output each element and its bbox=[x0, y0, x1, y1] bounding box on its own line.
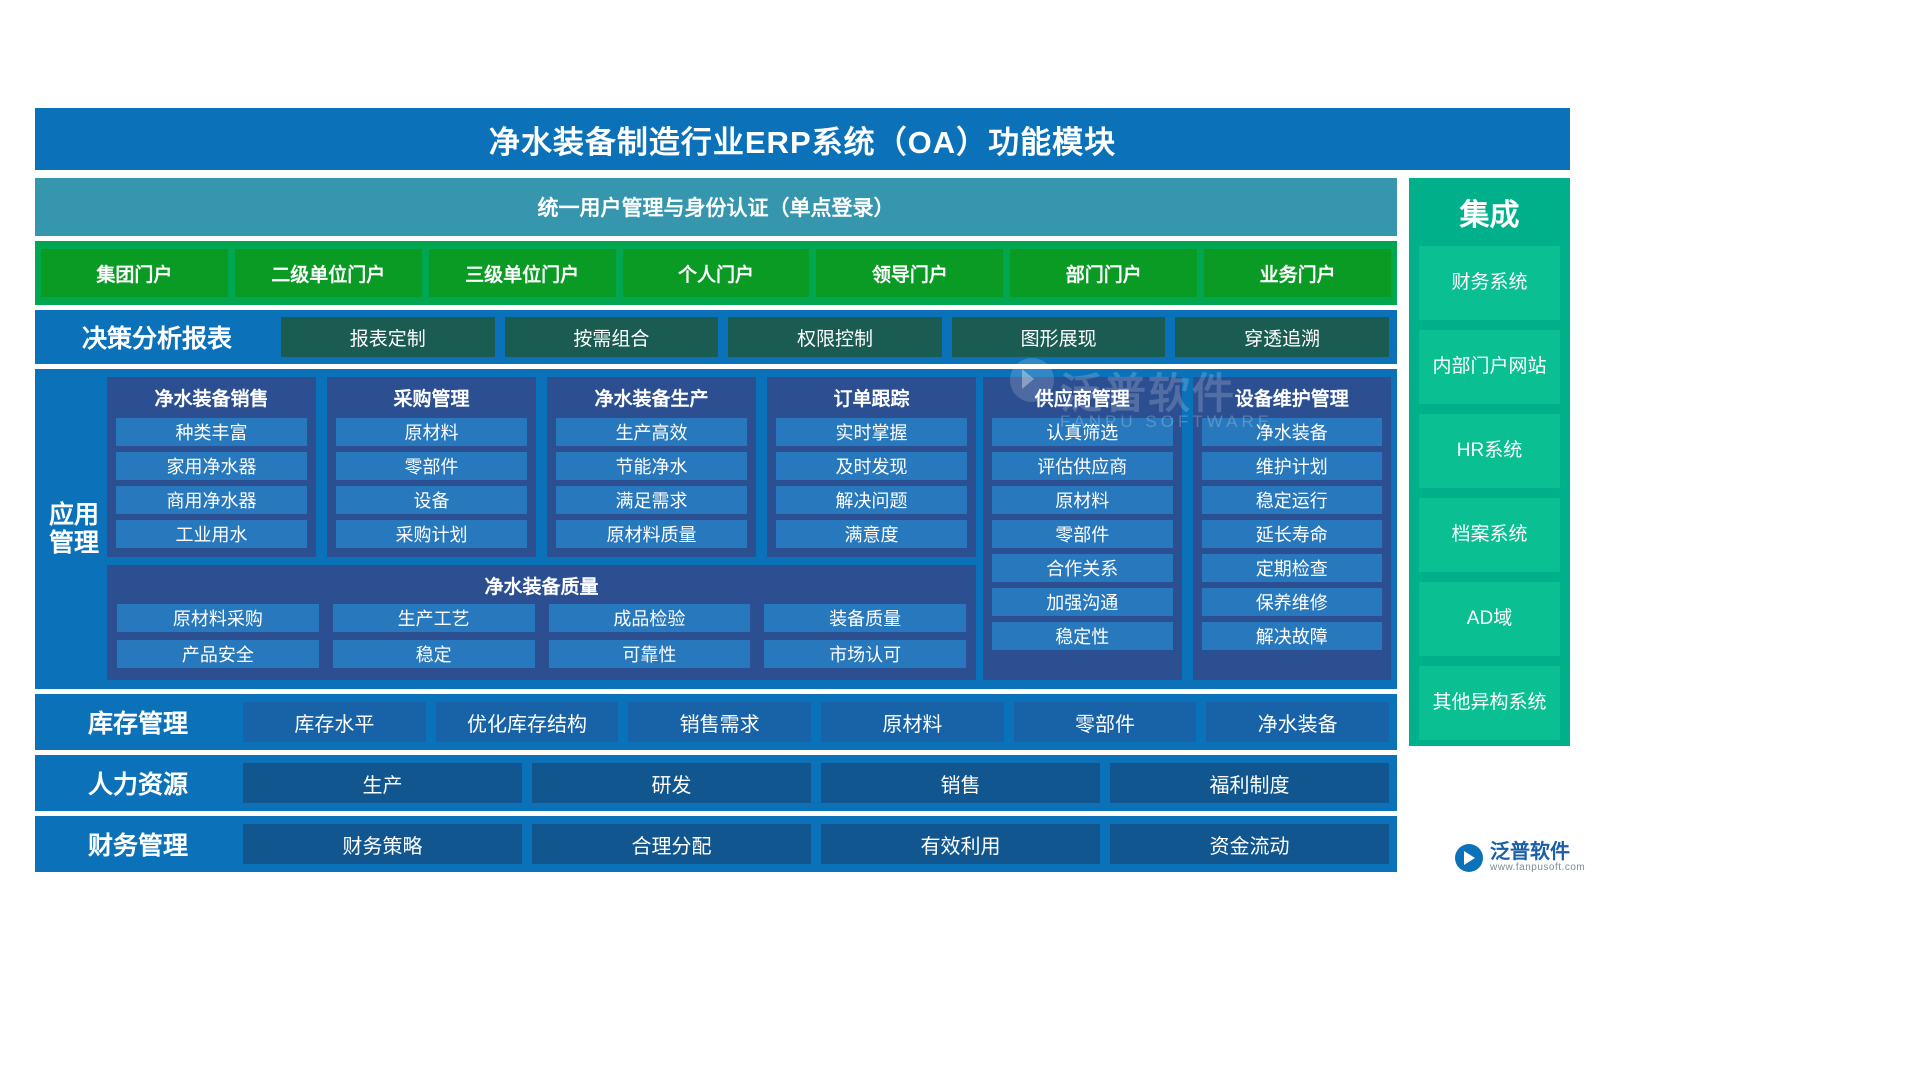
application-left-stack: 净水装备销售 种类丰富 家用净水器 商用净水器 工业用水 采购管理 原材料 零部… bbox=[107, 377, 976, 680]
portal-button-department[interactable]: 部门门户 bbox=[1010, 249, 1197, 297]
integration-item-archive[interactable]: 档案系统 bbox=[1419, 498, 1560, 572]
application-management-section: 应用管理 净水装备销售 种类丰富 家用净水器 商用净水器 工业用水 bbox=[35, 369, 1397, 689]
brand-name: 泛普软件 bbox=[1490, 842, 1585, 863]
chip-quality-2-1[interactable]: 生产工艺 bbox=[333, 604, 535, 632]
quality-column-4: 装备质量 市场认可 bbox=[764, 604, 966, 668]
finance-title: 财务管理 bbox=[43, 826, 233, 862]
finance-item-3[interactable]: 有效利用 bbox=[821, 824, 1100, 864]
chip-purchasing-4[interactable]: 采购计划 bbox=[336, 520, 527, 548]
portal-button-level2[interactable]: 二级单位门户 bbox=[235, 249, 422, 297]
inventory-item-5[interactable]: 零部件 bbox=[1014, 702, 1197, 742]
decision-report-title: 决策分析报表 bbox=[43, 319, 271, 355]
chip-sales-4[interactable]: 工业用水 bbox=[116, 520, 307, 548]
chip-quality-2-2[interactable]: 稳定 bbox=[333, 640, 535, 668]
portal-button-personal[interactable]: 个人门户 bbox=[623, 249, 810, 297]
inventory-row: 库存管理 库存水平 优化库存结构 销售需求 原材料 零部件 净水装备 bbox=[35, 694, 1397, 750]
finance-item-4[interactable]: 资金流动 bbox=[1110, 824, 1389, 864]
card-title-purchasing: 采购管理 bbox=[336, 384, 527, 411]
card-title-equipment: 设备维护管理 bbox=[1202, 384, 1383, 411]
quality-column-1: 原材料采购 产品安全 bbox=[117, 604, 319, 668]
hr-item-1[interactable]: 生产 bbox=[243, 763, 522, 803]
integration-item-intranet[interactable]: 内部门户网站 bbox=[1419, 330, 1560, 404]
finance-item-2[interactable]: 合理分配 bbox=[532, 824, 811, 864]
sso-banner: 统一用户管理与身份认证（单点登录） bbox=[35, 178, 1397, 236]
quality-grid: 原材料采购 产品安全 生产工艺 稳定 成品检验 可靠性 bbox=[117, 604, 966, 668]
portal-button-leadership[interactable]: 领导门户 bbox=[816, 249, 1003, 297]
quality-column-2: 生产工艺 稳定 bbox=[333, 604, 535, 668]
hr-row: 人力资源 生产 研发 销售 福利制度 bbox=[35, 755, 1397, 811]
chip-supplier-5[interactable]: 合作关系 bbox=[992, 554, 1173, 582]
chip-supplier-4[interactable]: 零部件 bbox=[992, 520, 1173, 548]
chip-purchasing-3[interactable]: 设备 bbox=[336, 486, 527, 514]
chip-quality-4-2[interactable]: 市场认可 bbox=[764, 640, 966, 668]
main-column: 统一用户管理与身份认证（单点登录） 集团门户 二级单位门户 三级单位门户 个人门… bbox=[35, 178, 1397, 877]
report-item-permission[interactable]: 权限控制 bbox=[728, 317, 942, 357]
card-title-quality: 净水装备质量 bbox=[117, 572, 966, 599]
card-title-sales: 净水装备销售 bbox=[116, 384, 307, 411]
chip-sales-1[interactable]: 种类丰富 bbox=[116, 418, 307, 446]
finance-row: 财务管理 财务策略 合理分配 有效利用 资金流动 bbox=[35, 816, 1397, 872]
chip-equipment-3[interactable]: 稳定运行 bbox=[1202, 486, 1383, 514]
report-item-graph[interactable]: 图形展现 bbox=[952, 317, 1166, 357]
chip-equipment-7[interactable]: 解决故障 bbox=[1202, 622, 1383, 650]
chip-production-1[interactable]: 生产高效 bbox=[556, 418, 747, 446]
chip-production-3[interactable]: 满足需求 bbox=[556, 486, 747, 514]
card-order-tracking: 订单跟踪 实时掌握 及时发现 解决问题 满意度 bbox=[767, 377, 976, 557]
inventory-item-6[interactable]: 净水装备 bbox=[1206, 702, 1389, 742]
inventory-item-2[interactable]: 优化库存结构 bbox=[436, 702, 619, 742]
inventory-item-1[interactable]: 库存水平 bbox=[243, 702, 426, 742]
chip-equipment-2[interactable]: 维护计划 bbox=[1202, 452, 1383, 480]
application-management-label: 应用管理 bbox=[41, 377, 107, 680]
finance-item-1[interactable]: 财务策略 bbox=[243, 824, 522, 864]
integration-item-finance[interactable]: 财务系统 bbox=[1419, 246, 1560, 320]
brand-logo-text: 泛普软件 www.fanpusoft.com bbox=[1490, 842, 1585, 874]
inventory-title: 库存管理 bbox=[43, 704, 233, 740]
chip-production-2[interactable]: 节能净水 bbox=[556, 452, 747, 480]
chip-supplier-1[interactable]: 认真筛选 bbox=[992, 418, 1173, 446]
chip-equipment-6[interactable]: 保养维修 bbox=[1202, 588, 1383, 616]
application-right-stack: 供应商管理 认真筛选 评估供应商 原材料 零部件 合作关系 加强沟通 稳定性 设… bbox=[983, 377, 1391, 680]
chip-order-4[interactable]: 满意度 bbox=[776, 520, 967, 548]
chip-quality-4-1[interactable]: 装备质量 bbox=[764, 604, 966, 632]
report-item-custom[interactable]: 报表定制 bbox=[281, 317, 495, 357]
chip-equipment-5[interactable]: 定期检查 bbox=[1202, 554, 1383, 582]
integration-item-hr[interactable]: HR系统 bbox=[1419, 414, 1560, 488]
chip-order-1[interactable]: 实时掌握 bbox=[776, 418, 967, 446]
portal-button-business[interactable]: 业务门户 bbox=[1204, 249, 1391, 297]
chip-sales-3[interactable]: 商用净水器 bbox=[116, 486, 307, 514]
watermark-logo-icon bbox=[1010, 358, 1054, 402]
inventory-item-4[interactable]: 原材料 bbox=[821, 702, 1004, 742]
hr-item-2[interactable]: 研发 bbox=[532, 763, 811, 803]
portal-band: 集团门户 二级单位门户 三级单位门户 个人门户 领导门户 部门门户 业务门户 bbox=[35, 241, 1397, 305]
chip-supplier-3[interactable]: 原材料 bbox=[992, 486, 1173, 514]
card-sales: 净水装备销售 种类丰富 家用净水器 商用净水器 工业用水 bbox=[107, 377, 316, 557]
card-supplier-management: 供应商管理 认真筛选 评估供应商 原材料 零部件 合作关系 加强沟通 稳定性 bbox=[983, 377, 1182, 680]
report-item-combine[interactable]: 按需组合 bbox=[505, 317, 719, 357]
integration-title: 集成 bbox=[1409, 178, 1570, 246]
chip-equipment-4[interactable]: 延长寿命 bbox=[1202, 520, 1383, 548]
chip-quality-1-2[interactable]: 产品安全 bbox=[117, 640, 319, 668]
brand-logo-icon bbox=[1455, 844, 1483, 872]
card-quality: 净水装备质量 原材料采购 产品安全 生产工艺 稳定 成品检验 bbox=[107, 565, 976, 680]
brand-logo: 泛普软件 www.fanpusoft.com bbox=[1455, 842, 1585, 874]
integration-item-other[interactable]: 其他异构系统 bbox=[1419, 666, 1560, 740]
chip-production-4[interactable]: 原材料质量 bbox=[556, 520, 747, 548]
chip-order-3[interactable]: 解决问题 bbox=[776, 486, 967, 514]
chip-order-2[interactable]: 及时发现 bbox=[776, 452, 967, 480]
chip-supplier-6[interactable]: 加强沟通 bbox=[992, 588, 1173, 616]
chip-quality-3-2[interactable]: 可靠性 bbox=[549, 640, 751, 668]
portal-button-group[interactable]: 集团门户 bbox=[41, 249, 228, 297]
chip-supplier-2[interactable]: 评估供应商 bbox=[992, 452, 1173, 480]
decision-report-row: 决策分析报表 报表定制 按需组合 权限控制 图形展现 穿透追溯 bbox=[35, 310, 1397, 364]
brand-url: www.fanpusoft.com bbox=[1490, 863, 1585, 874]
inventory-item-3[interactable]: 销售需求 bbox=[628, 702, 811, 742]
hr-item-4[interactable]: 福利制度 bbox=[1110, 763, 1389, 803]
application-body: 净水装备销售 种类丰富 家用净水器 商用净水器 工业用水 采购管理 原材料 零部… bbox=[107, 377, 1391, 680]
portal-button-level3[interactable]: 三级单位门户 bbox=[429, 249, 616, 297]
diagram-canvas: 净水装备制造行业ERP系统（OA）功能模块 统一用户管理与身份认证（单点登录） … bbox=[0, 0, 1920, 1080]
chip-equipment-1[interactable]: 净水装备 bbox=[1202, 418, 1383, 446]
hr-item-3[interactable]: 销售 bbox=[821, 763, 1100, 803]
chip-quality-1-1[interactable]: 原材料采购 bbox=[117, 604, 319, 632]
application-card-row: 净水装备销售 种类丰富 家用净水器 商用净水器 工业用水 采购管理 原材料 零部… bbox=[107, 377, 976, 557]
page-title: 净水装备制造行业ERP系统（OA）功能模块 bbox=[35, 108, 1570, 170]
chip-supplier-7[interactable]: 稳定性 bbox=[992, 622, 1173, 650]
card-title-order-tracking: 订单跟踪 bbox=[776, 384, 967, 411]
hr-title: 人力资源 bbox=[43, 765, 233, 801]
card-production: 净水装备生产 生产高效 节能净水 满足需求 原材料质量 bbox=[547, 377, 756, 557]
chip-sales-2[interactable]: 家用净水器 bbox=[116, 452, 307, 480]
quality-column-3: 成品检验 可靠性 bbox=[549, 604, 751, 668]
chip-quality-3-1[interactable]: 成品检验 bbox=[549, 604, 751, 632]
report-item-drilldown[interactable]: 穿透追溯 bbox=[1175, 317, 1389, 357]
card-purchasing: 采购管理 原材料 零部件 设备 采购计划 bbox=[327, 377, 536, 557]
card-title-production: 净水装备生产 bbox=[556, 384, 747, 411]
card-equipment-maintenance: 设备维护管理 净水装备 维护计划 稳定运行 延长寿命 定期检查 保养维修 解决故… bbox=[1193, 377, 1392, 680]
chip-purchasing-2[interactable]: 零部件 bbox=[336, 452, 527, 480]
chip-purchasing-1[interactable]: 原材料 bbox=[336, 418, 527, 446]
integration-column: 集成 财务系统 内部门户网站 HR系统 档案系统 AD域 其他异构系统 bbox=[1409, 178, 1570, 746]
integration-items: 财务系统 内部门户网站 HR系统 档案系统 AD域 其他异构系统 bbox=[1409, 246, 1570, 740]
integration-item-ad[interactable]: AD域 bbox=[1419, 582, 1560, 656]
